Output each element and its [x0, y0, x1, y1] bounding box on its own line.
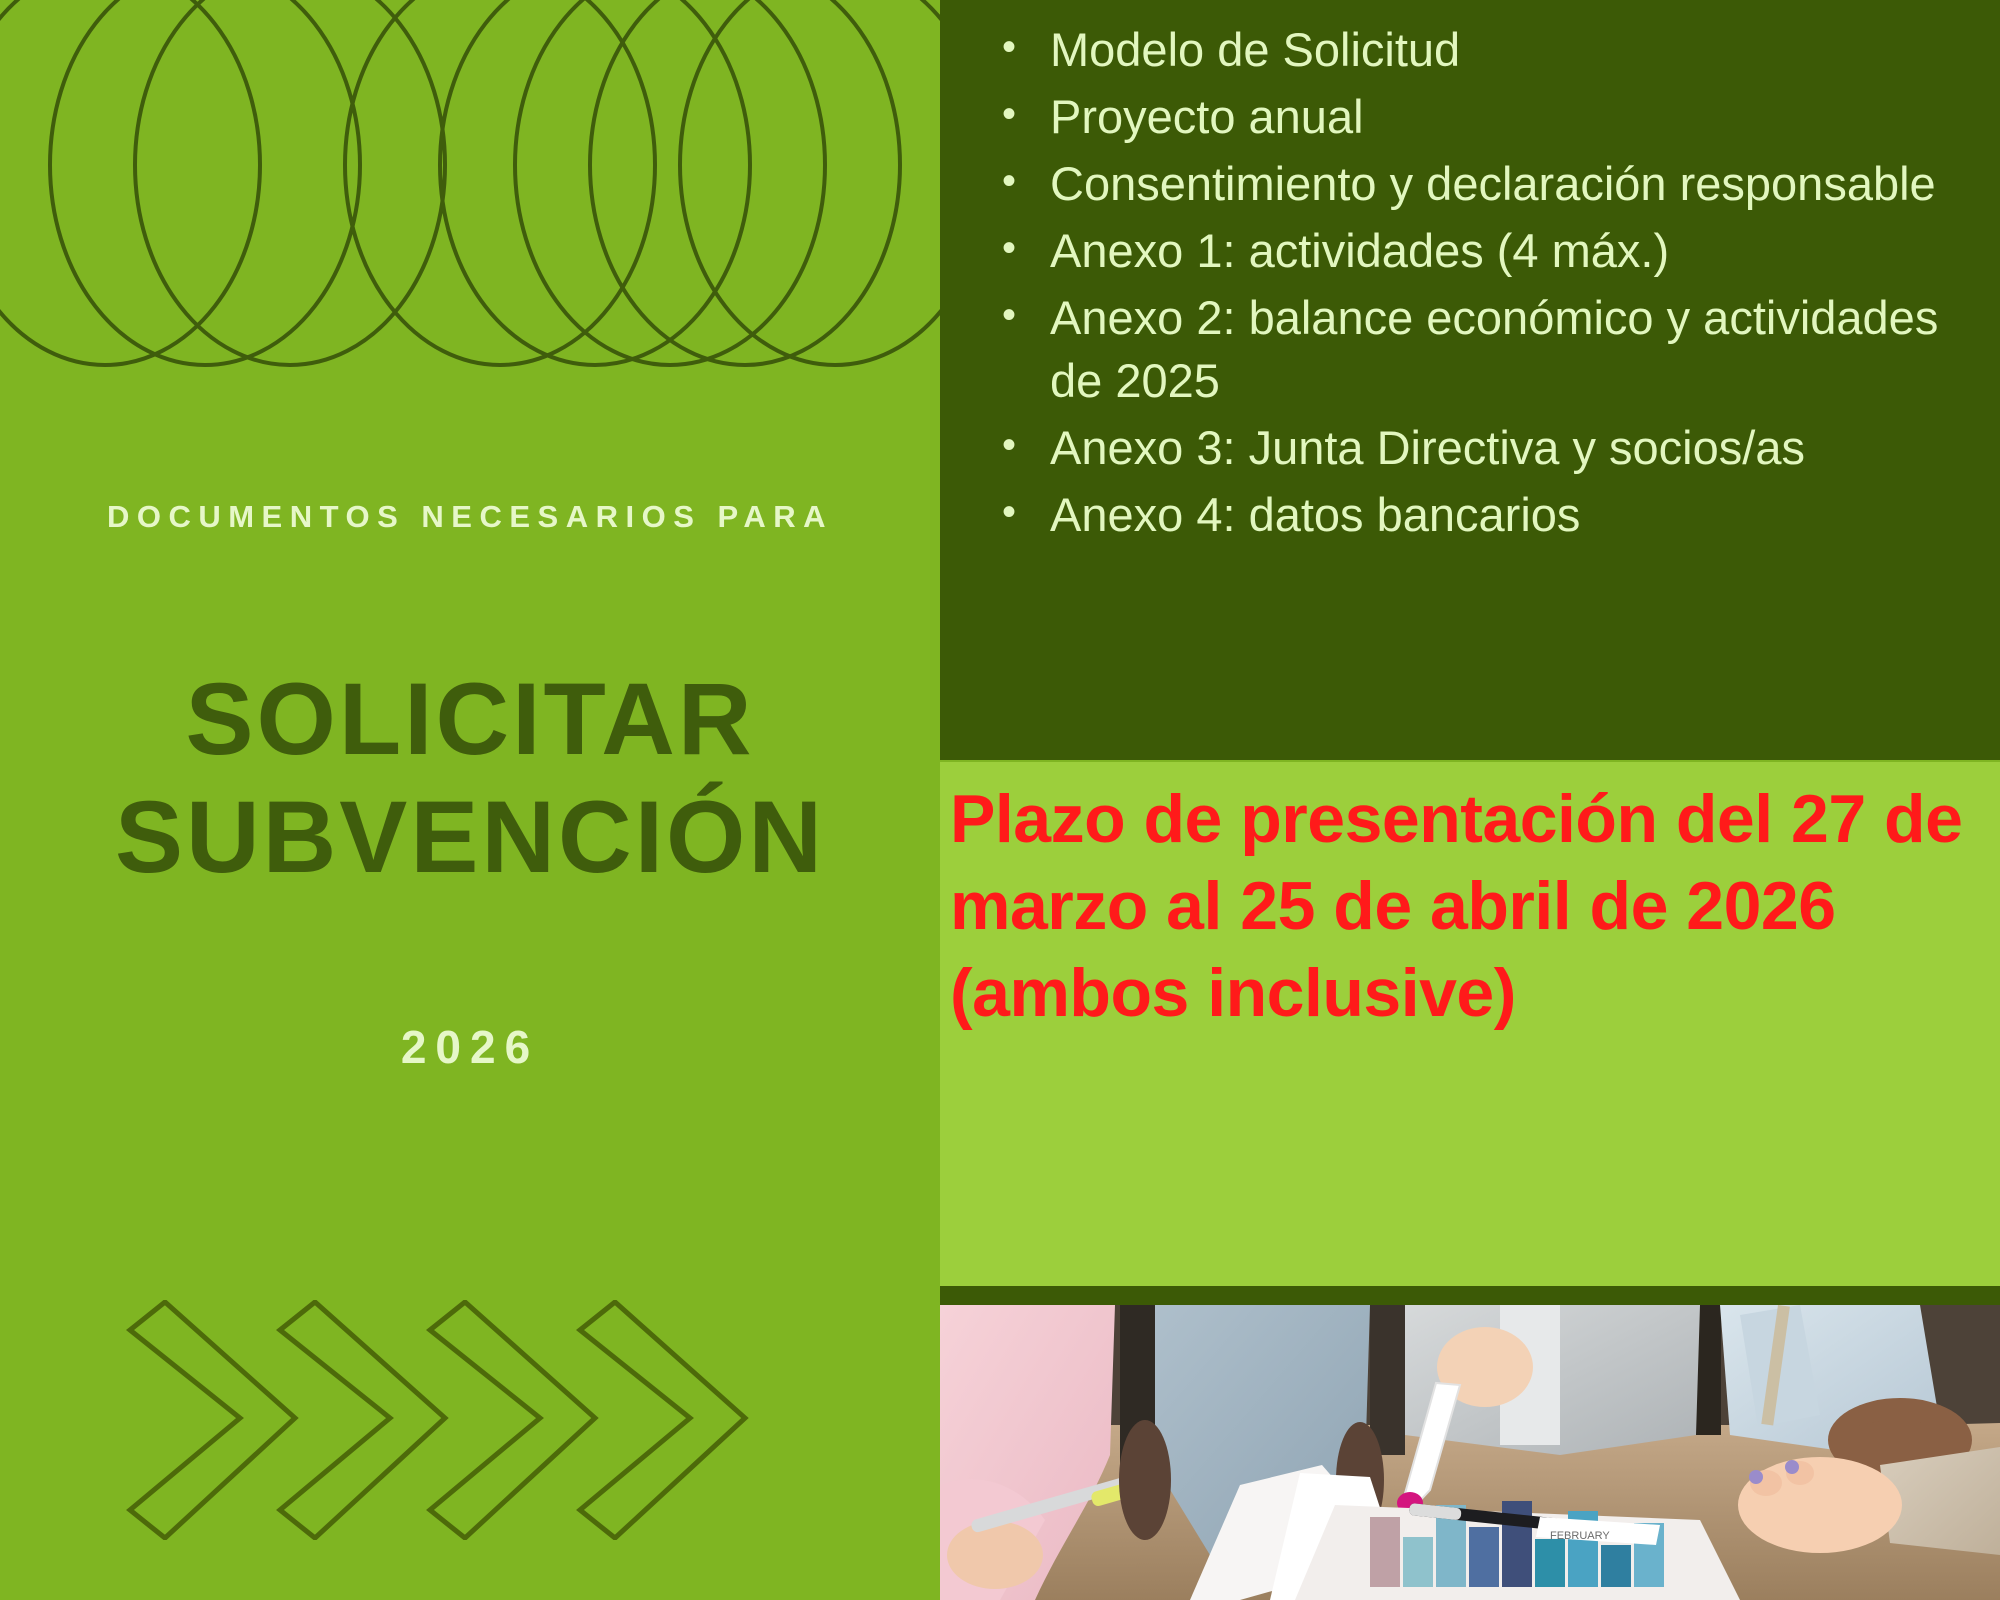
page-title: SOLICITAR SUBVENCIÓN [0, 660, 940, 896]
deadline-panel: Plazo de presentación del 27 de marzo al… [940, 762, 2000, 1286]
deadline-text: Plazo de presentación del 27 de marzo al… [940, 762, 2000, 1037]
list-item: Consentimiento y declaración responsable [1002, 152, 1986, 215]
list-item: Proyecto anual [1002, 85, 1986, 148]
documents-list: Modelo de Solicitud Proyecto anual Conse… [940, 0, 2000, 546]
meeting-photo: FEBRUARY [940, 1305, 2000, 1600]
list-item: Anexo 4: datos bancarios [1002, 483, 1986, 546]
poster-canvas: DOCUMENTOS NECESARIOS PARA SOLICITAR SUB… [0, 0, 2000, 1600]
list-item: Modelo de Solicitud [1002, 18, 1986, 81]
svg-text:FEBRUARY: FEBRUARY [1550, 1530, 1610, 1542]
page-kicker: DOCUMENTOS NECESARIOS PARA [0, 490, 940, 543]
list-item: Anexo 3: Junta Directiva y socios/as [1002, 416, 1986, 479]
page-title-line-2: SUBVENCIÓN [0, 778, 940, 896]
chevron-arrows-icon [120, 1300, 760, 1540]
circles-pattern-icon [0, 0, 940, 370]
meeting-photo-illustration: FEBRUARY [940, 1305, 2000, 1600]
left-panel: DOCUMENTOS NECESARIOS PARA SOLICITAR SUB… [0, 0, 940, 1600]
list-item: Anexo 2: balance económico y actividades… [1002, 286, 1986, 412]
year-label: 2026 [0, 1020, 940, 1074]
list-item: Anexo 1: actividades (4 máx.) [1002, 219, 1986, 282]
photo-panel: FEBRUARY [940, 1286, 2000, 1600]
documents-list-panel: Modelo de Solicitud Proyecto anual Conse… [940, 0, 2000, 760]
page-title-line-1: SOLICITAR [0, 660, 940, 778]
